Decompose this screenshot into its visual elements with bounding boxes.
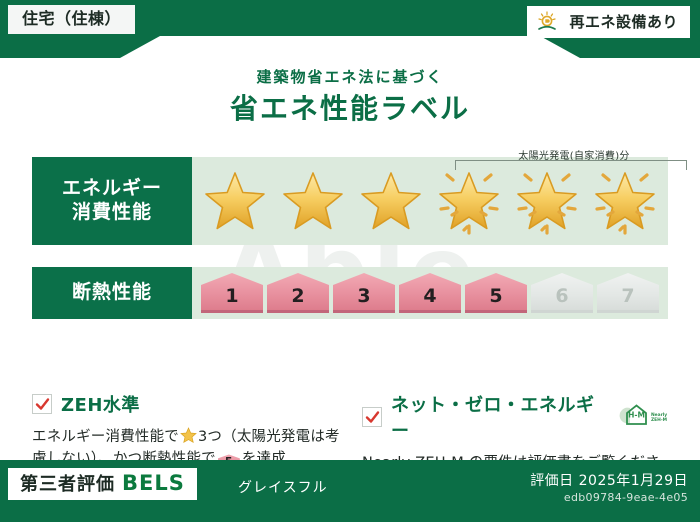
- zeh-standard-title: ZEH水準: [61, 391, 140, 417]
- insulation-level-6: 6: [531, 273, 593, 313]
- document-id: edb09784-9eae-4e05: [564, 491, 688, 504]
- net-zero-title: ネット・ゼロ・エネルギー: [391, 391, 609, 443]
- solar-sparkle-icon: [595, 163, 655, 239]
- sun-icon: [536, 11, 562, 33]
- insulation-level-4: 4: [399, 273, 461, 313]
- insulation-performance-label: 断熱性能: [32, 267, 192, 319]
- page-title: 省エネ性能ラベル: [0, 87, 700, 127]
- zeh-standard-body: エネルギー消費性能で3つ（太陽光発電は考慮しない）、かつ断熱性能で5を達成: [32, 426, 352, 471]
- net-zero-heading: ネット・ゼロ・エネルギー H-M Nearly ZEH-M: [362, 391, 672, 443]
- inline-star-icon: [180, 427, 197, 444]
- star-rating: [192, 157, 668, 245]
- insulation-level-2: 2: [267, 273, 329, 313]
- energy-performance-label: エネルギー 消費性能: [32, 157, 192, 245]
- insulation-performance-row: 断熱性能 1234567: [32, 267, 668, 319]
- zeh-standard-checkbox[interactable]: [32, 394, 52, 414]
- third-party-evaluation-tag: 第三者評価 BELS: [8, 468, 197, 500]
- star-1: [199, 163, 271, 239]
- evaluation-tag-jp: 第三者評価: [20, 476, 115, 494]
- property-name: グレイスフル: [238, 477, 328, 497]
- check-icon: [35, 397, 50, 412]
- insulation-level-7: 7: [597, 273, 659, 313]
- insulation-performance-scale: 1234567: [192, 267, 668, 319]
- star-icon: [283, 171, 343, 231]
- bels-logo-text: BELS: [122, 473, 185, 494]
- evaluation-date: 評価日 2025年1月29日: [530, 470, 688, 490]
- label-body: Able 建築物省エネ法に基づく 省エネ性能ラベル エネルギー 消費性能 太陽光…: [0, 36, 700, 460]
- title-subtitle: 建築物省エネ法に基づく: [0, 66, 700, 87]
- svg-text:ZEH-M: ZEH-M: [651, 417, 667, 423]
- insulation-level-3: 3: [333, 273, 395, 313]
- star-2: [277, 163, 349, 239]
- renewable-energy-badge: 再エネ設備あり: [527, 6, 690, 38]
- nearly-zehm-logo-icon: H-M Nearly ZEH-M: [618, 402, 672, 432]
- net-zero-checkbox[interactable]: [362, 407, 382, 427]
- renewable-badge-label: 再エネ設備あり: [569, 15, 678, 30]
- insulation-level-1: 1: [201, 273, 263, 313]
- energy-performance-scale: 太陽光発電(自家消費)分: [192, 157, 668, 245]
- star-icon: [205, 171, 265, 231]
- insulation-level-5: 5: [465, 273, 527, 313]
- solar-sparkle-icon: [517, 163, 577, 239]
- star-icon: [361, 171, 421, 231]
- star-6: [589, 163, 661, 239]
- svg-text:H-M: H-M: [628, 411, 645, 420]
- star-4: [433, 163, 505, 239]
- solar-sparkle-icon: [439, 163, 499, 239]
- zeh-standard-heading: ZEH水準: [32, 391, 352, 417]
- check-icon: [365, 410, 380, 425]
- star-5: [511, 163, 583, 239]
- energy-performance-row: エネルギー 消費性能 太陽光発電(自家消費)分: [32, 157, 668, 245]
- category-tag: 住宅（住棟）: [8, 5, 135, 34]
- energy-label-card: 住宅（住棟） 再エネ設備あり Able 建築物省エネ法に基づく 省エネ性能ラベル: [0, 0, 700, 522]
- zeh-standard-note: ZEH水準 エネルギー消費性能で3つ（太陽光発電は考慮しない）、かつ断熱性能で5…: [32, 391, 352, 471]
- inline-insulation-chip: 5: [218, 454, 240, 469]
- star-3: [355, 163, 427, 239]
- insulation-level-list: 1234567: [192, 267, 668, 319]
